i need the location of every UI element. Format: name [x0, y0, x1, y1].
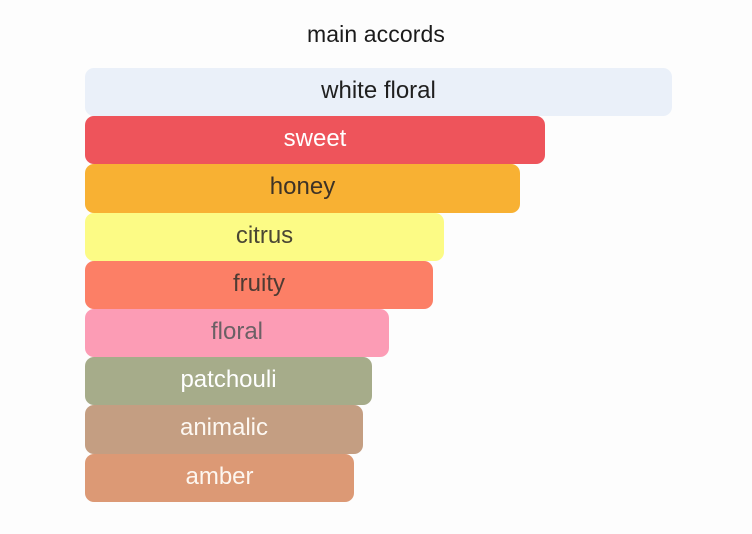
accord-bar[interactable]: floral — [85, 309, 389, 357]
accord-bar-label: animalic — [180, 416, 268, 442]
accord-bar[interactable]: honey — [85, 164, 520, 212]
accord-bar-label: amber — [185, 465, 253, 491]
accord-bar-label: sweet — [284, 127, 347, 153]
accord-bar-label: floral — [211, 320, 263, 346]
accord-bar[interactable]: sweet — [85, 116, 545, 164]
accord-bar[interactable]: patchouli — [85, 357, 372, 405]
accord-bar[interactable]: amber — [85, 454, 354, 502]
accord-bar-label: white floral — [321, 79, 436, 105]
chart-title: main accords — [0, 21, 752, 48]
accord-bar[interactable]: fruity — [85, 261, 433, 309]
accord-bar-label: citrus — [236, 224, 293, 250]
accord-bar[interactable]: animalic — [85, 405, 363, 453]
accord-bar-label: fruity — [233, 272, 285, 298]
accord-bar-label: honey — [270, 175, 335, 201]
accord-bar-label: patchouli — [180, 368, 276, 394]
accord-bar[interactable]: white floral — [85, 68, 672, 116]
main-accords-chart: main accords white floralsweethoneycitru… — [0, 0, 752, 534]
accord-bar-list: white floralsweethoneycitrusfruityfloral… — [85, 68, 685, 502]
accord-bar[interactable]: citrus — [85, 213, 444, 261]
